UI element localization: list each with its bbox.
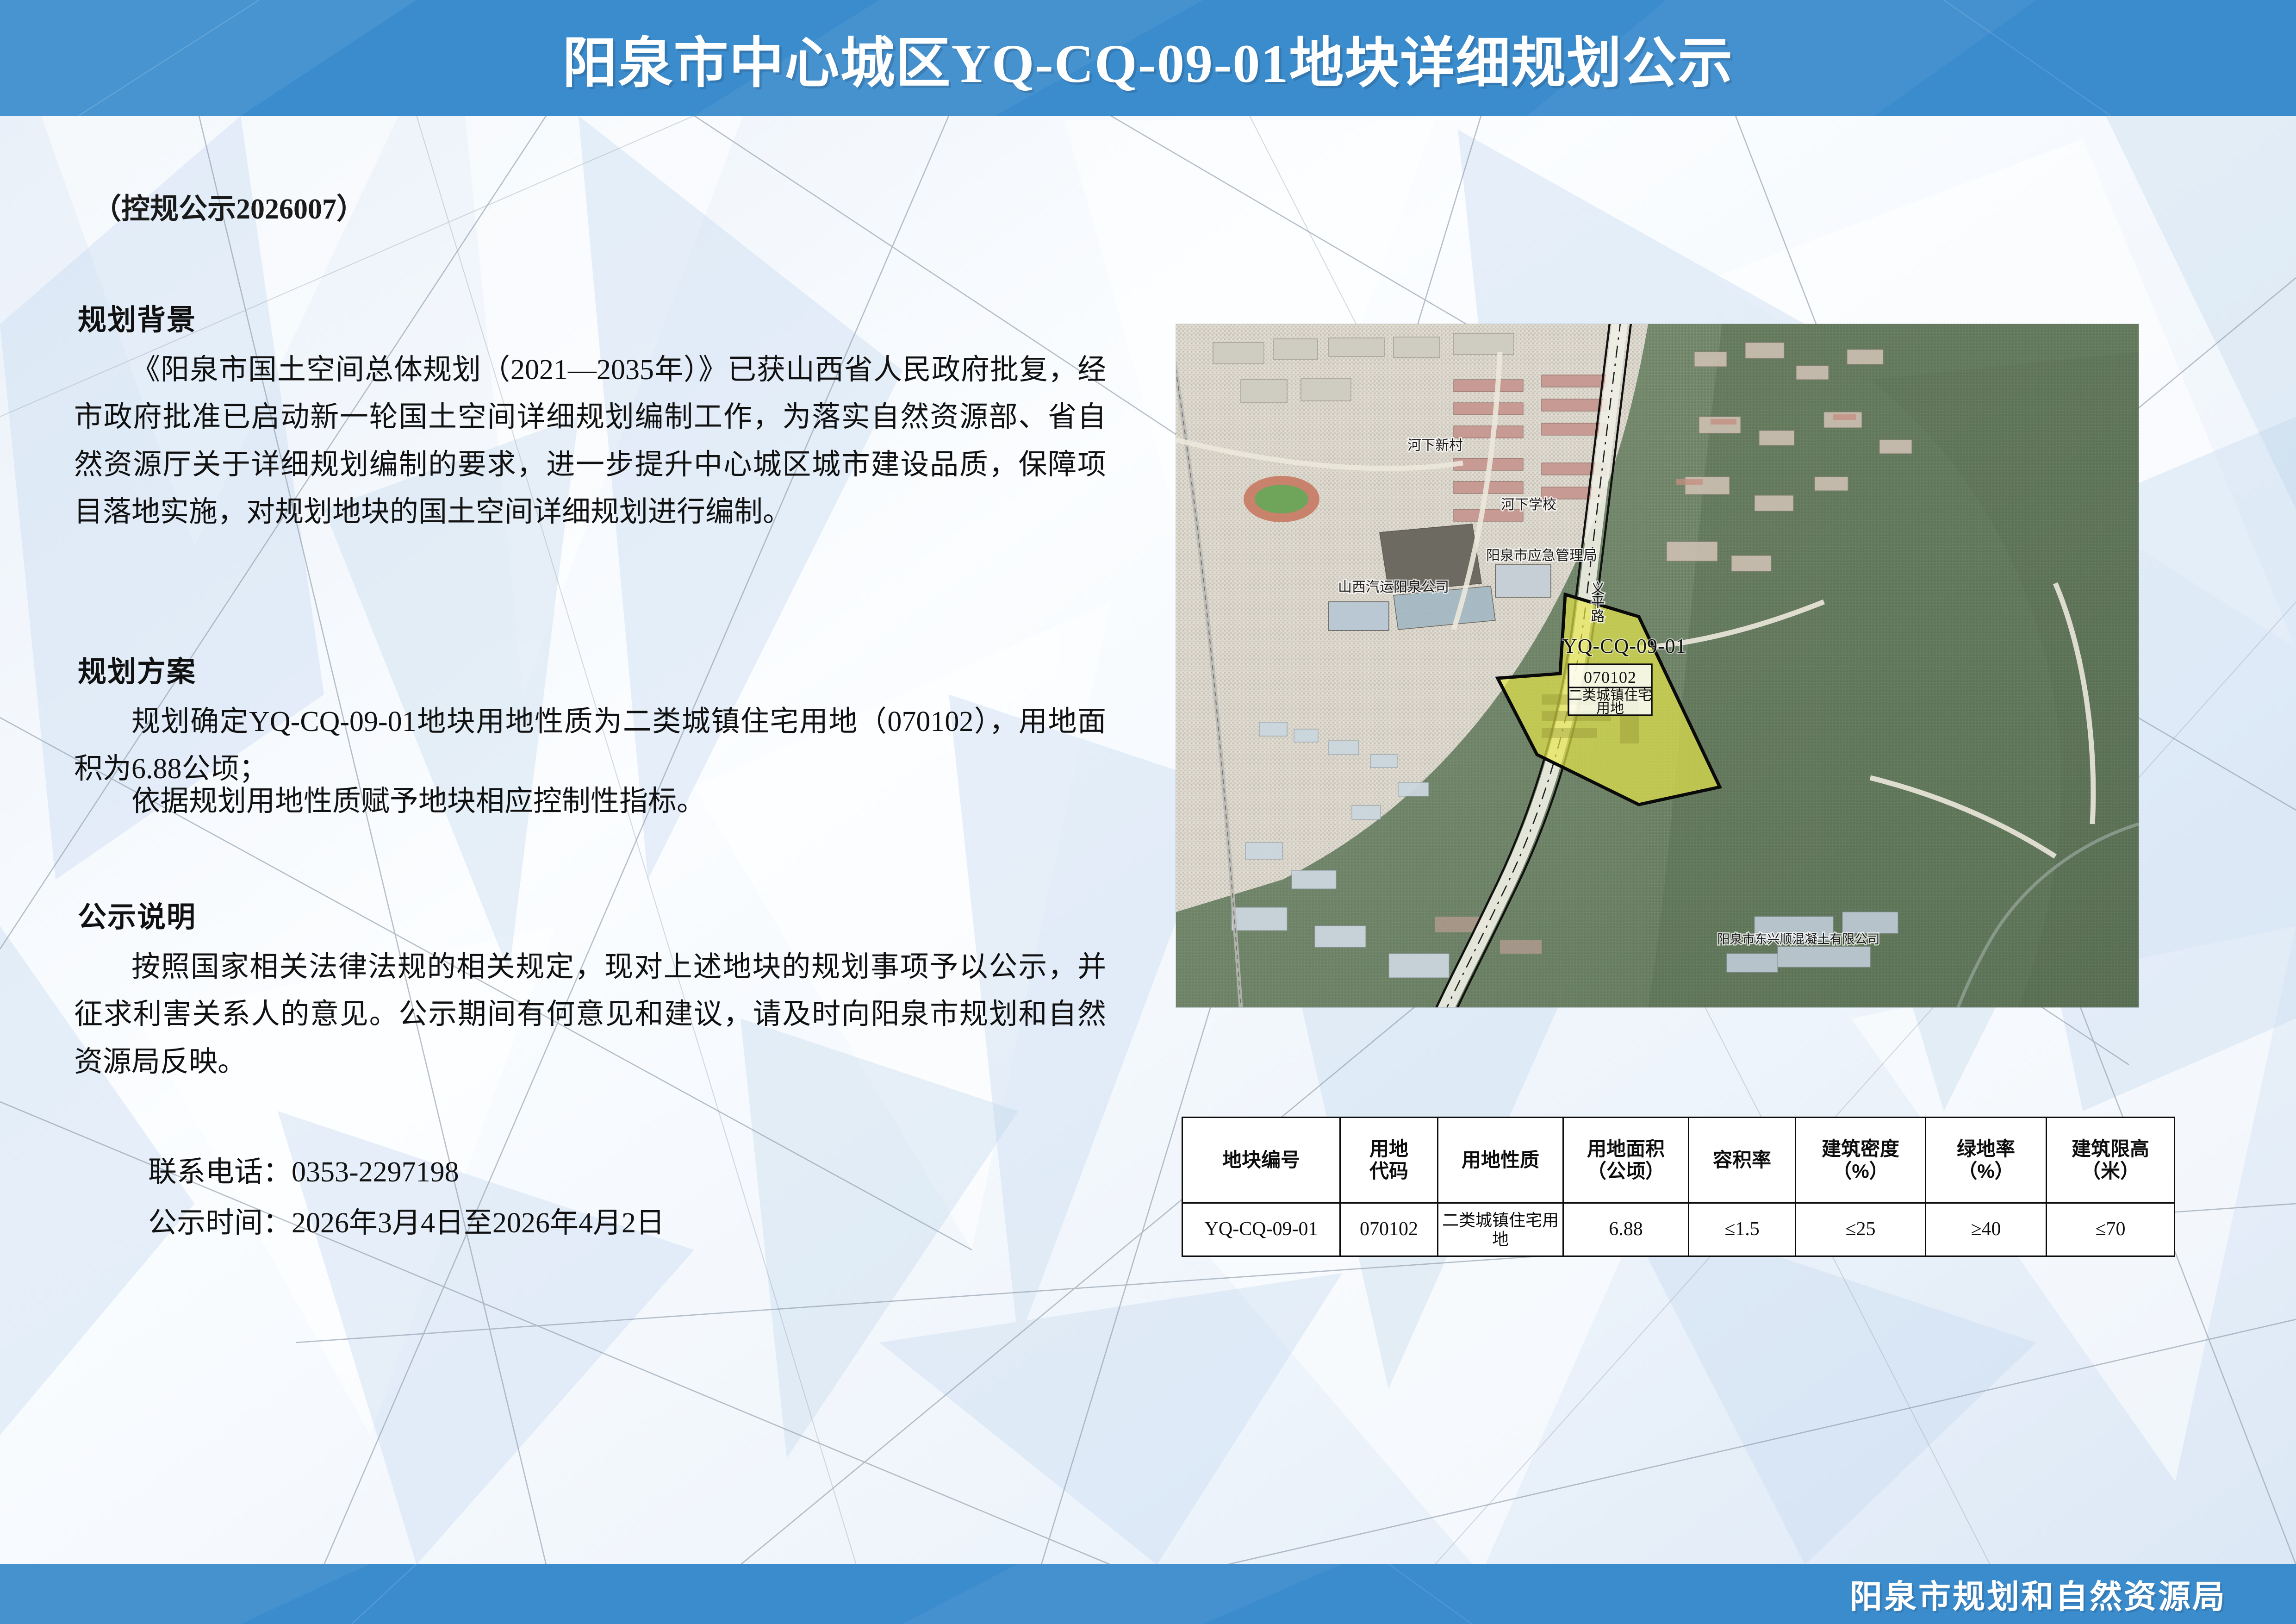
map-label-dongxingshun-concrete: 阳泉市东兴顺混凝土有限公司 xyxy=(1717,932,1880,946)
cell-density: ≤25 xyxy=(1796,1203,1926,1256)
publicity-period: 公示时间：2026年3月4日至2026年4月2日 xyxy=(148,1199,665,1241)
map-label-hexia-school: 河下学校 xyxy=(1501,497,1556,512)
header-banner: 阳泉市中心城区YQ-CQ-09-01地块详细规划公示 xyxy=(0,0,2296,116)
cell-far: ≤1.5 xyxy=(1689,1203,1796,1256)
issuing-authority: 阳泉市规划和自然资源局 xyxy=(1850,1564,2227,1624)
col-header-density: 建筑密度（%） xyxy=(1796,1118,1926,1203)
map-canvas: YQ-CQ-09-01 070102 二类城镇住宅 用地 河下新村 河下学校 山… xyxy=(1176,324,2139,1007)
section-body-background: 《阳泉市国土空间总体规划（2021—2035年）》已获山西省人民政府批复，经市政… xyxy=(74,346,1106,536)
section-body-notice: 按照国家相关法律法规的相关规定，现对上述地块的规划事项予以公示，并征求利害关系人… xyxy=(74,943,1106,1086)
section-heading-scheme: 规划方案 xyxy=(78,648,196,690)
section-heading-background: 规划背景 xyxy=(78,296,196,338)
site-map[interactable]: YQ-CQ-09-01 070102 二类城镇住宅 用地 河下新村 河下学校 山… xyxy=(1176,324,2139,1007)
table-row: YQ-CQ-09-01 070102 二类城镇住宅用地 6.88 ≤1.5 ≤2… xyxy=(1182,1203,2175,1256)
section-body-scheme-2: 依据规划用地性质赋予地块相应控制性指标。 xyxy=(74,778,1106,825)
col-header-land-code: 用地代码 xyxy=(1340,1118,1438,1203)
col-header-plot-no: 地块编号 xyxy=(1182,1118,1340,1203)
cell-land-use: 二类城镇住宅用地 xyxy=(1438,1203,1563,1256)
cell-green-ratio: ≥40 xyxy=(1926,1203,2047,1256)
col-header-green-ratio: 绿地率（%） xyxy=(1926,1118,2047,1203)
cell-area: 6.88 xyxy=(1563,1203,1689,1256)
map-label-shanxi-qiyun: 山西汽运阳泉公司 xyxy=(1338,580,1449,595)
parcel-use-line2: 用地 xyxy=(1596,701,1624,716)
map-label-yiping-road: 义平路 xyxy=(1589,581,1605,623)
col-header-height-limit: 建筑限高（米） xyxy=(2047,1118,2175,1203)
section-heading-notice: 公示说明 xyxy=(78,893,196,935)
cell-plot-no: YQ-CQ-09-01 xyxy=(1182,1203,1340,1256)
col-header-area: 用地面积（公顷） xyxy=(1563,1118,1689,1203)
col-header-land-use: 用地性质 xyxy=(1438,1118,1563,1203)
table-header-row: 地块编号 用地代码 用地性质 用地面积（公顷） 容积率 建筑密度（%） 绿地率（… xyxy=(1182,1118,2175,1203)
cell-land-code: 070102 xyxy=(1340,1203,1438,1256)
col-header-far: 容积率 xyxy=(1689,1118,1796,1203)
parcel-info-box: 070102 二类城镇住宅 用地 xyxy=(1568,664,1652,716)
parcel-id-label: YQ-CQ-09-01 xyxy=(1562,635,1686,657)
document-number: （控规公示2026007） xyxy=(93,185,365,227)
cell-height-limit: ≤70 xyxy=(2047,1203,2175,1256)
parcel-code-label: 070102 xyxy=(1584,668,1636,687)
map-label-emergency-bureau: 阳泉市应急管理局 xyxy=(1486,548,1597,563)
page-title: 阳泉市中心城区YQ-CQ-09-01地块详细规划公示 xyxy=(0,0,2296,116)
contact-phone: 联系电话：0353-2297198 xyxy=(148,1148,459,1190)
footer-banner: 阳泉市规划和自然资源局 xyxy=(0,1564,2296,1624)
publicity-poster: 阳泉市中心城区YQ-CQ-09-01地块详细规划公示 （控规公示2026007）… xyxy=(0,0,2296,1624)
map-label-hexia-xincun: 河下新村 xyxy=(1407,438,1463,453)
indicator-table: 地块编号 用地代码 用地性质 用地面积（公顷） 容积率 建筑密度（%） 绿地率（… xyxy=(1182,1117,2175,1257)
